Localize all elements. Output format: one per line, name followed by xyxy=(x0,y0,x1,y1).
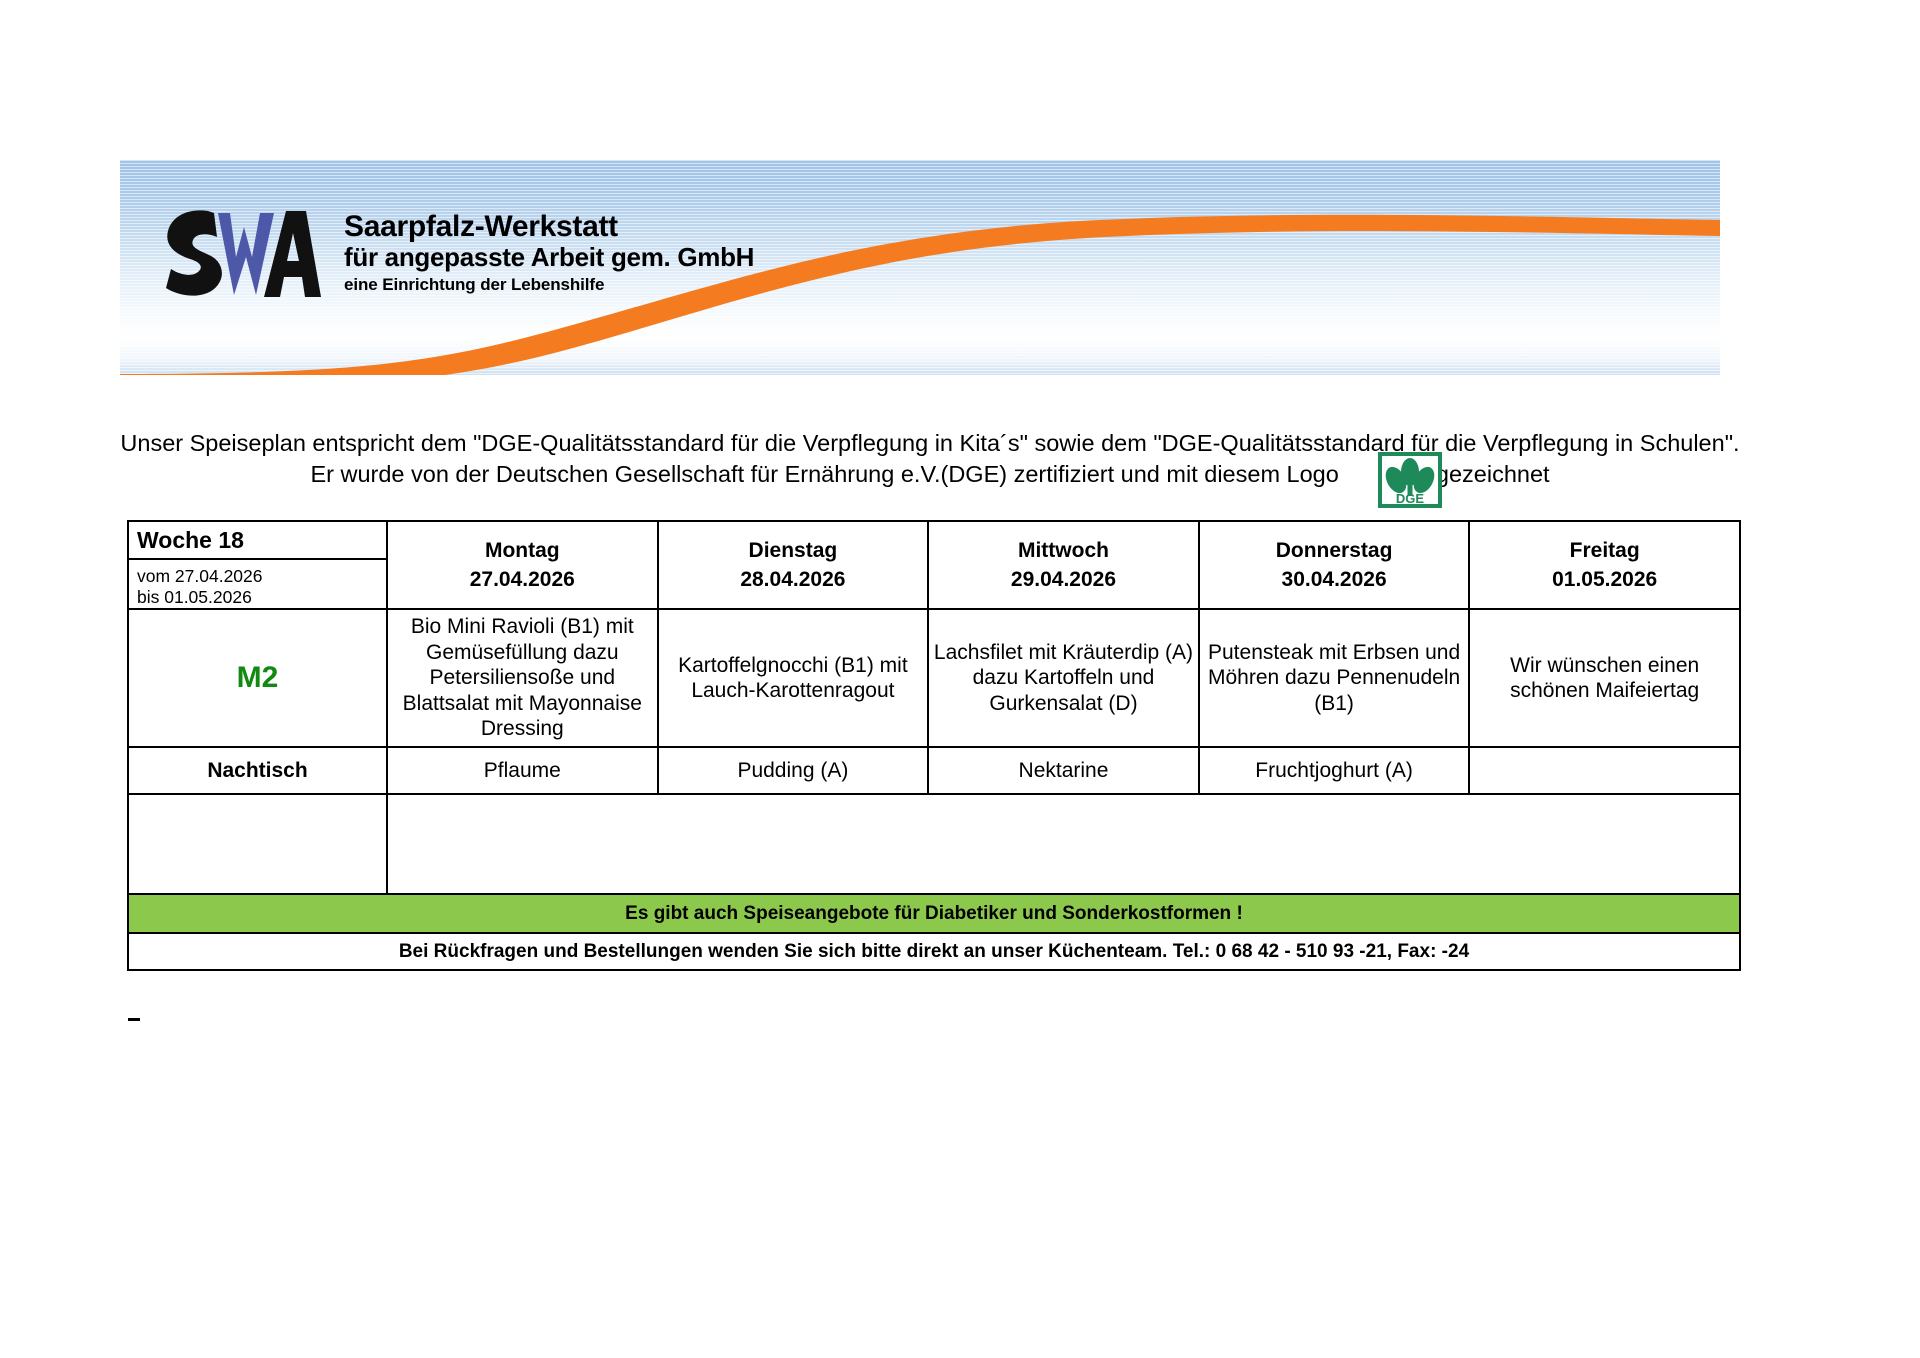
contact-text: Bei Rückfragen und Bestellungen wenden S… xyxy=(128,933,1740,970)
org-name-line2: für angepasste Arbeit gem. GmbH xyxy=(344,243,754,272)
intro-line-2-after-logo: gezeichnet xyxy=(1436,461,1550,487)
day-name: Mittwoch xyxy=(929,536,1198,565)
week-info-cell: Woche 18 vom 27.04.2026 bis 01.05.2026 xyxy=(128,521,387,609)
day-name: Dienstag xyxy=(659,536,928,565)
day-header-freitag: Freitag 01.05.2026 xyxy=(1469,521,1740,609)
menu-code-cell: M2 xyxy=(128,609,387,747)
dessert-row-label: Nachtisch xyxy=(128,747,387,794)
dessert-cell-mittwoch: Nektarine xyxy=(928,747,1199,794)
contact-row: Bei Rückfragen und Bestellungen wenden S… xyxy=(128,933,1740,970)
swa-logo: Saarpfalz-Werkstatt für angepasste Arbei… xyxy=(160,205,754,300)
week-range-to: bis 01.05.2026 xyxy=(129,587,386,608)
notice-row: Es gibt auch Speiseangebote für Diabetik… xyxy=(128,894,1740,933)
intro-line-2: Er wurde von der Deutschen Gesellschaft … xyxy=(120,459,1740,490)
menu-cell-montag: Bio Mini Ravioli (B1) mit Gemüsefüllung … xyxy=(387,609,658,747)
day-date: 29.04.2026 xyxy=(929,565,1198,594)
day-header-dienstag: Dienstag 28.04.2026 xyxy=(658,521,929,609)
org-name-line3: eine Einrichtung der Lebenshilfe xyxy=(344,271,754,295)
weekly-menu-table: Woche 18 vom 27.04.2026 bis 01.05.2026 M… xyxy=(127,520,1741,971)
dessert-row: Nachtisch Pflaume Pudding (A) Nektarine … xyxy=(128,747,1740,794)
menu-cell-mittwoch: Lachsfilet mit Kräuterdip (A) dazu Karto… xyxy=(928,609,1199,747)
table-header-row: Woche 18 vom 27.04.2026 bis 01.05.2026 M… xyxy=(128,521,1740,609)
day-name: Freitag xyxy=(1470,536,1739,565)
dessert-cell-freitag xyxy=(1469,747,1740,794)
day-date: 28.04.2026 xyxy=(659,565,928,594)
swa-logo-mark-icon xyxy=(160,205,330,300)
blank-cell-span xyxy=(387,794,1740,894)
intro-paragraph: Unser Speiseplan entspricht dem "DGE-Qua… xyxy=(120,428,1740,490)
day-date: 30.04.2026 xyxy=(1200,565,1469,594)
table-bottom-tick-mark xyxy=(128,1018,140,1021)
intro-line-1: Unser Speiseplan entspricht dem "DGE-Qua… xyxy=(120,428,1740,459)
day-date: 27.04.2026 xyxy=(388,565,657,594)
menu-cell-donnerstag: Putensteak mit Erbsen und Möhren dazu Pe… xyxy=(1199,609,1470,747)
blank-cell-label xyxy=(128,794,387,894)
day-name: Donnerstag xyxy=(1200,536,1469,565)
intro-line-2-before-logo: Er wurde von der Deutschen Gesellschaft … xyxy=(310,461,1338,487)
dge-certification-logo-icon: DGE xyxy=(1378,452,1442,508)
blank-row xyxy=(128,794,1740,894)
menu-cell-dienstag: Kartoffelgnocchi (B1) mit Lauch-Karotten… xyxy=(658,609,929,747)
day-header-mittwoch: Mittwoch 29.04.2026 xyxy=(928,521,1199,609)
menu-cell-freitag: Wir wünschen einen schönen Maifeiertag xyxy=(1469,609,1740,747)
svg-text:DGE: DGE xyxy=(1396,491,1425,506)
dessert-cell-montag: Pflaume xyxy=(387,747,658,794)
org-name-line1: Saarpfalz-Werkstatt xyxy=(344,211,754,243)
dessert-cell-donnerstag: Fruchtjoghurt (A) xyxy=(1199,747,1470,794)
header-banner: Saarpfalz-Werkstatt für angepasste Arbei… xyxy=(120,160,1720,375)
day-date: 01.05.2026 xyxy=(1470,565,1739,594)
week-title: Woche 18 xyxy=(129,522,386,560)
menu-row-m2: M2 Bio Mini Ravioli (B1) mit Gemüsefüllu… xyxy=(128,609,1740,747)
day-header-montag: Montag 27.04.2026 xyxy=(387,521,658,609)
menu-code-label: M2 xyxy=(237,661,279,694)
notice-text: Es gibt auch Speiseangebote für Diabetik… xyxy=(128,894,1740,933)
day-name: Montag xyxy=(388,536,657,565)
dessert-cell-dienstag: Pudding (A) xyxy=(658,747,929,794)
week-range-from: vom 27.04.2026 xyxy=(129,560,386,587)
day-header-donnerstag: Donnerstag 30.04.2026 xyxy=(1199,521,1470,609)
